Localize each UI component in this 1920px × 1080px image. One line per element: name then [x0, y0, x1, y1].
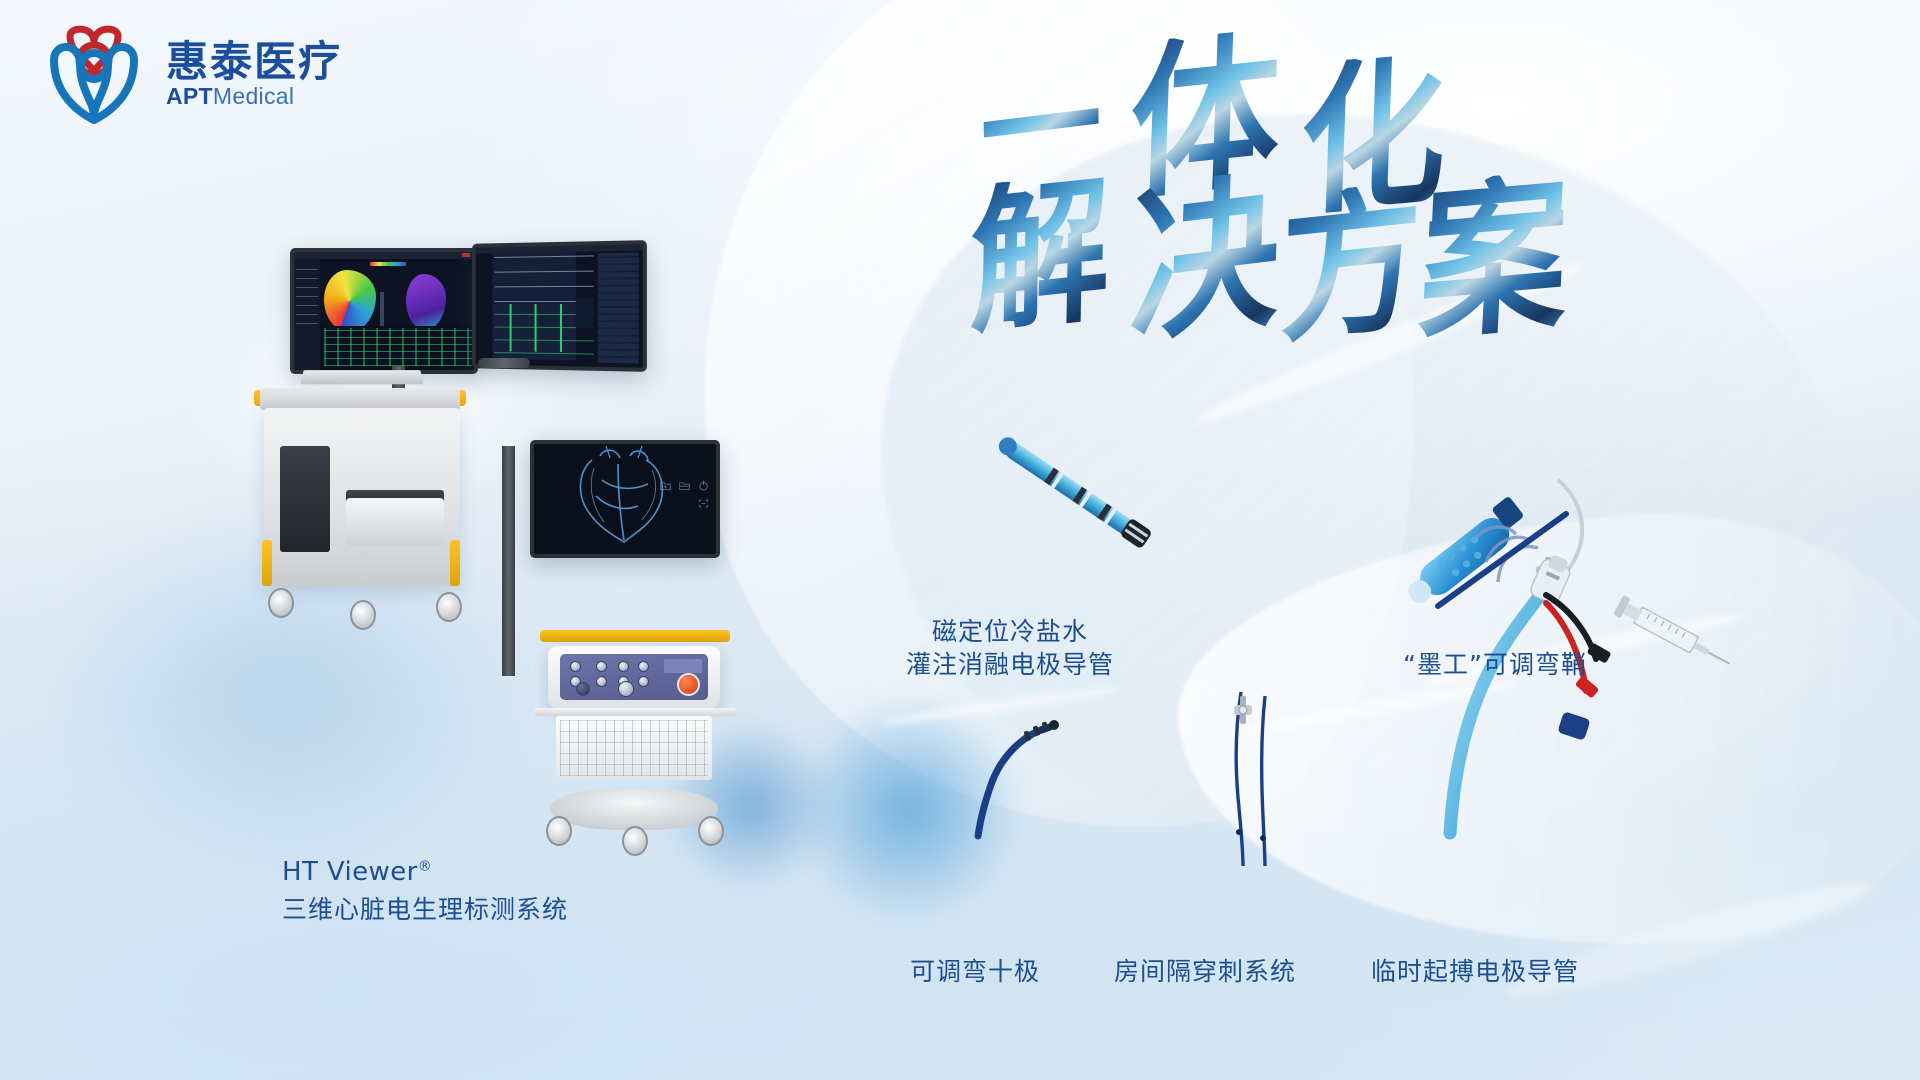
brand-name-en-light: Medical	[213, 83, 294, 109]
power-icon[interactable]	[698, 480, 709, 491]
generator-front-panel[interactable]	[560, 654, 708, 700]
emergency-stop-button[interactable]	[679, 675, 698, 694]
product-label-transseptal: 房间隔穿刺系统	[1080, 955, 1330, 988]
trolley-caster-1	[546, 816, 572, 846]
right-atrium-map	[406, 274, 446, 330]
recording-monitor	[472, 240, 647, 372]
cart-caster-1	[268, 588, 294, 618]
new-folder-icon[interactable]	[660, 480, 671, 491]
headline-calligraphy: 一 体 化 解 决 方 案	[980, 35, 1640, 345]
cart-side-accent	[262, 540, 272, 586]
registration-icon[interactable]	[698, 498, 709, 509]
heart-display-monitor	[530, 440, 720, 558]
poster-canvas: 惠泰医疗 APTMedical 一 体 化 解 决 方 案	[0, 0, 1920, 1080]
cart-side-accent-2	[450, 540, 460, 586]
electrophysiology-recording-display	[476, 244, 643, 367]
apt-medical-heart-logo	[40, 20, 148, 128]
product-label-ablation-catheter: 磁定位冷盐水 灌注消融电极导管	[860, 615, 1160, 681]
heart-imaging-display	[534, 444, 716, 554]
brand-logo: 惠泰医疗 APTMedical	[40, 20, 342, 128]
open-folder-icon[interactable]	[679, 480, 690, 491]
rf-ablation-generator	[548, 646, 720, 708]
registered-mark: ®	[418, 858, 432, 874]
trolley-accent-shelf	[540, 630, 730, 642]
trolley-tray	[534, 708, 736, 716]
cart-worktop	[260, 388, 460, 410]
headline-char-6: 方	[1279, 180, 1423, 352]
ht-viewer-workstation	[250, 240, 720, 660]
monitor-arm	[478, 358, 530, 368]
brand-name-en: APTMedical	[166, 85, 342, 108]
printer	[346, 498, 444, 546]
mapping-monitor	[290, 248, 478, 374]
3d-mapping-display	[294, 252, 474, 370]
trolley-caster-2	[698, 816, 724, 846]
ink-streak-5	[1502, 868, 1878, 1011]
rf-generator-trolley	[530, 620, 750, 880]
brand-wordmark: 惠泰医疗 APTMedical	[166, 41, 342, 108]
headline-char-4: 解	[969, 171, 1111, 344]
display-arm-column	[502, 446, 515, 676]
ablation-catheter-icon	[985, 435, 1175, 555]
trolley-base	[550, 788, 718, 830]
cart-caster-2	[436, 592, 462, 622]
keyboard[interactable]	[300, 370, 423, 384]
workstation-label-cn: 三维心脏电生理标测系统	[282, 893, 568, 926]
pacing-catheter-icon	[1420, 555, 1730, 845]
headline-char-5: 决	[1128, 167, 1283, 352]
decapolar-catheter-icon	[950, 710, 1070, 840]
trolley-caster-3	[622, 826, 648, 856]
workstation-label-en: HT Viewer®	[282, 855, 432, 889]
brand-name-cn: 惠泰医疗	[166, 41, 342, 83]
cart-caster-3	[350, 600, 376, 630]
computer-tower	[280, 446, 330, 552]
product-label-pacing-catheter: 临时起搏电极导管	[1325, 955, 1625, 988]
transseptal-needle-icon	[1215, 690, 1295, 870]
product-label-steerable-sheath: “墨工”可调弯鞘	[1345, 648, 1645, 681]
headline-char-7: 案	[1416, 169, 1572, 349]
left-atrium-map	[324, 270, 376, 332]
product-label-decapolar: 可调弯十极	[865, 955, 1085, 988]
brand-name-en-bold: APT	[166, 83, 213, 109]
trolley-basket	[556, 716, 712, 780]
heart-display-toolbar[interactable]	[660, 480, 709, 509]
